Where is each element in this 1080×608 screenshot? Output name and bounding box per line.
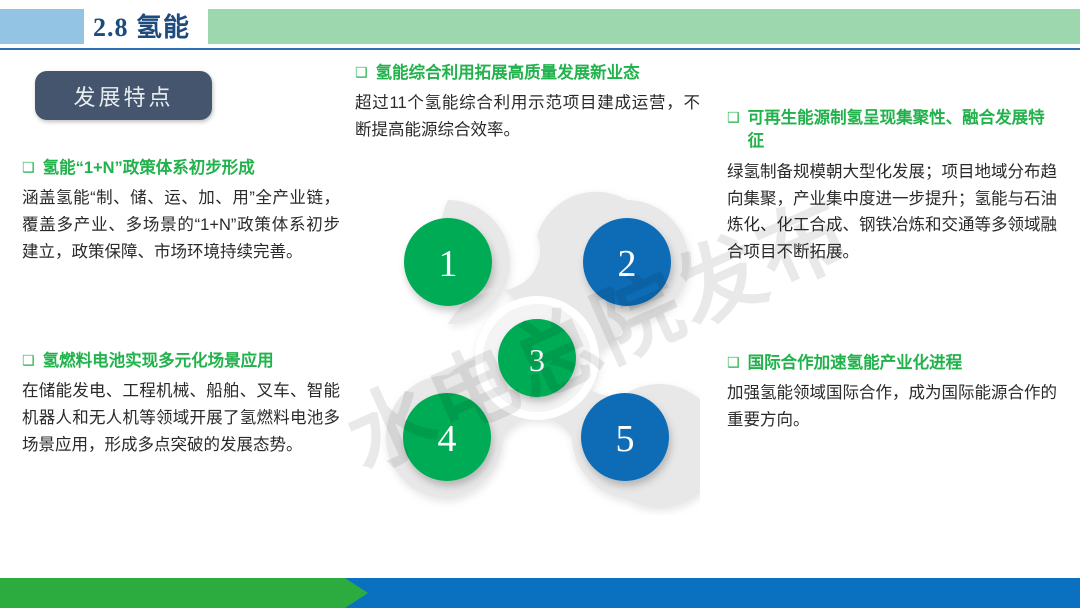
- block-heading-text: 氢能综合利用拓展高质量发展新业态: [376, 62, 700, 85]
- block-body-text: 绿氢制备规模朝大型化发展；项目地域分布趋向集聚，产业集中度进一步提升；氢能与石油…: [727, 159, 1057, 266]
- square-bullet-icon: ❑: [727, 107, 740, 128]
- five-node-cluster-diagram: 1 2 3 4 5: [360, 175, 700, 515]
- header-divider-line: [0, 48, 1080, 50]
- block-heading-text: 氢燃料电池实现多元化场景应用: [43, 350, 340, 373]
- diagram-node-5-label: 5: [616, 418, 635, 460]
- page-title: 2.8 氢能: [93, 7, 190, 44]
- header-blue-accent-block: [0, 9, 84, 44]
- feature-highlights-badge-label: 发展特点: [73, 80, 173, 112]
- header-green-accent-bar: [208, 9, 1080, 44]
- square-bullet-icon: ❑: [22, 350, 35, 371]
- block-heading-renewable-hydrogen: ❑ 可再生能源制氢呈现集聚性、融合发展特征: [727, 107, 1057, 154]
- content-block-international-cooperation: ❑ 国际合作加速氢能产业化进程 加强氢能领域国际合作，成为国际能源合作的重要方向…: [727, 352, 1057, 434]
- block-body-text: 超过11个氢能综合利用示范项目建成运营，不断提高能源综合效率。: [355, 90, 700, 143]
- diagram-node-3: 3: [498, 319, 576, 397]
- footer-green-chevron: [0, 578, 368, 608]
- block-heading-policy-system: ❑ 氢能“1+N”政策体系初步形成: [22, 157, 340, 180]
- diagram-node-4-label: 4: [438, 418, 457, 460]
- page-header: 2.8 氢能: [0, 0, 1080, 52]
- content-block-integrated-utilization: ❑ 氢能综合利用拓展高质量发展新业态 超过11个氢能综合利用示范项目建成运营，不…: [355, 62, 700, 144]
- block-heading-text: 氢能“1+N”政策体系初步形成: [43, 157, 340, 180]
- diagram-node-1: 1: [404, 218, 492, 306]
- block-body-text: 涵盖氢能“制、储、运、加、用”全产业链，覆盖多产业、多场景的“1+N”政策体系初…: [22, 185, 340, 265]
- diagram-node-2-label: 2: [618, 243, 637, 285]
- block-heading-text: 国际合作加速氢能产业化进程: [748, 352, 1057, 375]
- diagram-node-1-label: 1: [439, 243, 458, 285]
- diagram-node-4: 4: [403, 393, 491, 481]
- content-block-policy-system: ❑ 氢能“1+N”政策体系初步形成 涵盖氢能“制、储、运、加、用”全产业链，覆盖…: [22, 157, 340, 266]
- feature-highlights-badge: 发展特点: [35, 71, 212, 120]
- diagram-node-5: 5: [581, 393, 669, 481]
- block-heading-text: 可再生能源制氢呈现集聚性、融合发展特征: [748, 107, 1057, 154]
- content-block-fuel-cell-applications: ❑ 氢燃料电池实现多元化场景应用 在储能发电、工程机械、船舶、叉车、智能机器人和…: [22, 350, 340, 459]
- block-body-text: 加强氢能领域国际合作，成为国际能源合作的重要方向。: [727, 380, 1057, 433]
- diagram-node-2: 2: [583, 218, 671, 306]
- content-block-renewable-hydrogen: ❑ 可再生能源制氢呈现集聚性、融合发展特征 绿氢制备规模朝大型化发展；项目地域分…: [727, 107, 1057, 266]
- page-footer: [0, 578, 1080, 608]
- block-heading-international-cooperation: ❑ 国际合作加速氢能产业化进程: [727, 352, 1057, 375]
- square-bullet-icon: ❑: [727, 352, 740, 373]
- block-body-text: 在储能发电、工程机械、船舶、叉车、智能机器人和无人机等领域开展了氢燃料电池多场景…: [22, 378, 340, 458]
- block-heading-integrated-utilization: ❑ 氢能综合利用拓展高质量发展新业态: [355, 62, 700, 85]
- diagram-node-3-label: 3: [529, 342, 545, 378]
- block-heading-fuel-cell-applications: ❑ 氢燃料电池实现多元化场景应用: [22, 350, 340, 373]
- square-bullet-icon: ❑: [22, 157, 35, 178]
- square-bullet-icon: ❑: [355, 62, 368, 83]
